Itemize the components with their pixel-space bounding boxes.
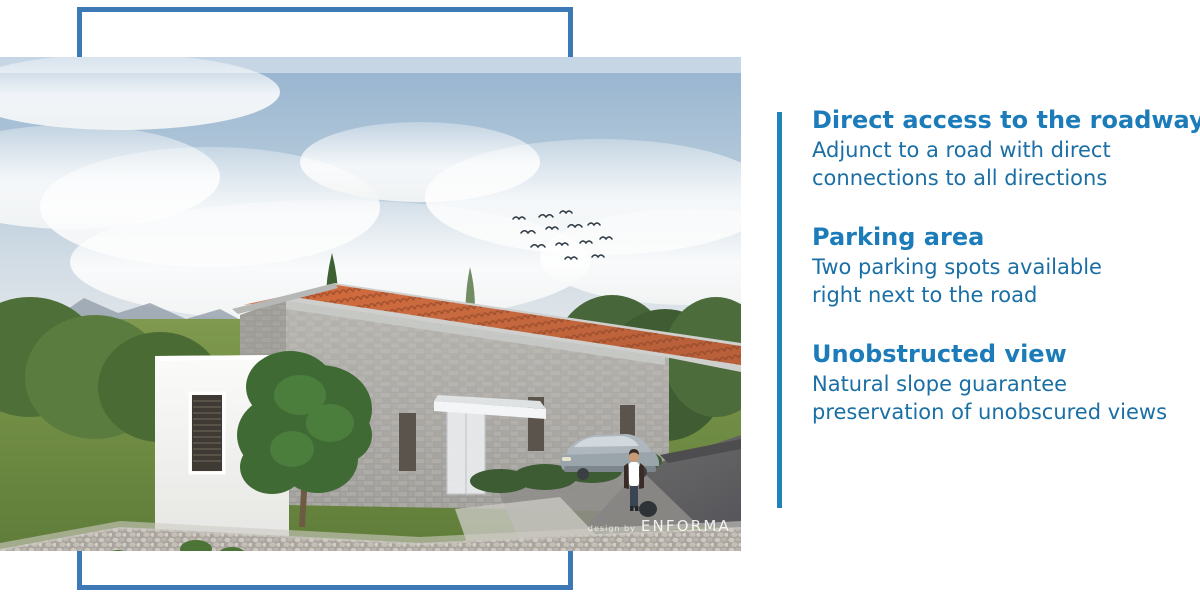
feature-item-2: Parking area Two parking spots available… <box>812 223 1200 310</box>
frame-segment-right-upper <box>568 7 573 58</box>
frame-segment-bottom <box>77 585 573 590</box>
feature-1-body-line-1: Adjunct to a road with direct <box>812 137 1200 165</box>
watermark-brand: ENFORMA <box>641 517 731 535</box>
frame-segment-left-lower <box>77 551 82 590</box>
feature-3-heading: Unobstructed view <box>812 340 1200 368</box>
feature-1-heading: Direct access to the roadway <box>812 106 1200 134</box>
feature-2-body-line-1: Two parking spots available <box>812 254 1200 282</box>
frame-segment-top <box>77 7 573 12</box>
render-watermark: design byENFORMA <box>588 517 731 535</box>
render-illustration <box>0 57 741 551</box>
feature-item-3: Unobstructed view Natural slope guarante… <box>812 340 1200 427</box>
feature-3-body-line-1: Natural slope guarantee <box>812 371 1200 399</box>
feature-item-1: Direct access to the roadway Adjunct to … <box>812 106 1200 193</box>
feature-2-body-line-2: right next to the road <box>812 282 1200 310</box>
property-render-image: design byENFORMA <box>0 57 741 551</box>
frame-segment-right-lower <box>568 551 573 590</box>
vertical-accent-bar <box>777 112 782 508</box>
feature-list: Direct access to the roadway Adjunct to … <box>812 106 1200 426</box>
frame-segment-left-upper <box>77 7 82 58</box>
watermark-prefix: design by <box>588 524 636 533</box>
feature-2-heading: Parking area <box>812 223 1200 251</box>
slide-canvas: design byENFORMA Direct access to the ro… <box>0 0 1200 600</box>
feature-1-body-line-2: connections to all directions <box>812 165 1200 193</box>
feature-3-body-line-2: preservation of unobscured views <box>812 399 1200 427</box>
